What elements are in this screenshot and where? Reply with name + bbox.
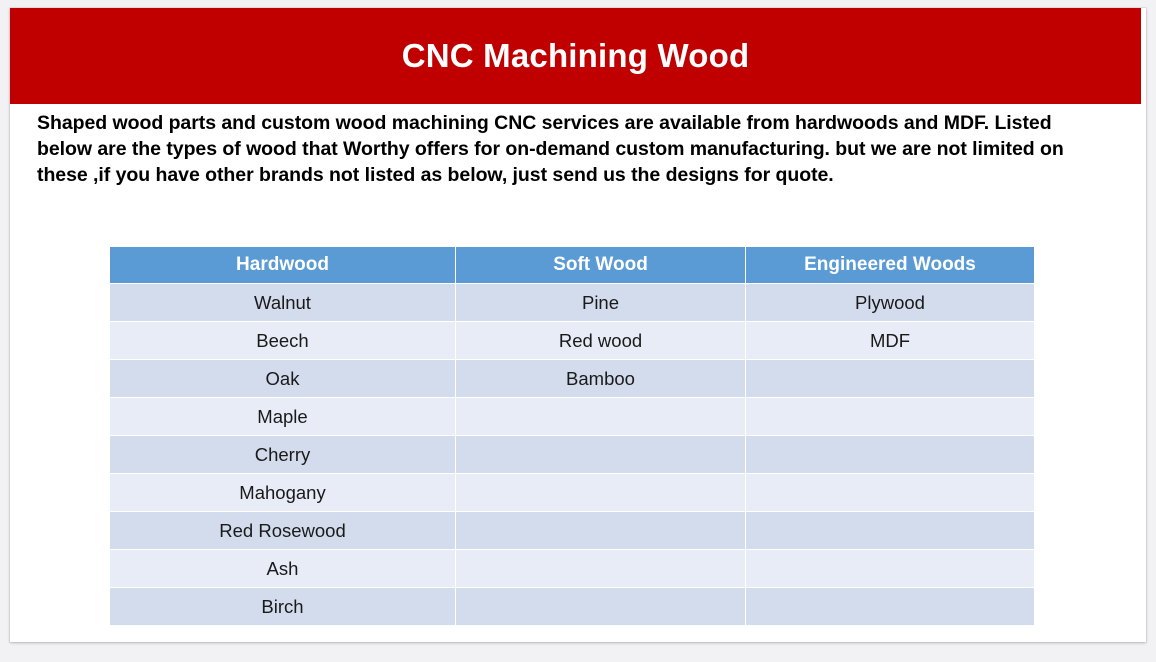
cell-soft-wood — [456, 512, 745, 549]
cell-engineered-woods — [746, 360, 1034, 397]
cell-engineered-woods: Plywood — [746, 284, 1034, 321]
cell-engineered-woods — [746, 588, 1034, 625]
cell-engineered-woods — [746, 512, 1034, 549]
table-body: Walnut Pine Plywood Beech Red wood MDF O… — [110, 284, 1034, 625]
cell-soft-wood — [456, 398, 745, 435]
cell-hardwood: Beech — [110, 322, 455, 359]
table-row: Cherry — [110, 436, 1034, 473]
column-header-engineered-woods: Engineered Woods — [746, 247, 1034, 283]
intro-paragraph: Shaped wood parts and custom wood machin… — [37, 111, 1097, 188]
cell-engineered-woods — [746, 550, 1034, 587]
cell-hardwood: Maple — [110, 398, 455, 435]
cell-soft-wood — [456, 474, 745, 511]
table-row: Birch — [110, 588, 1034, 625]
cell-hardwood: Walnut — [110, 284, 455, 321]
cell-hardwood: Oak — [110, 360, 455, 397]
title-banner: CNC Machining Wood — [10, 8, 1141, 104]
cell-soft-wood: Pine — [456, 284, 745, 321]
table-row: Maple — [110, 398, 1034, 435]
cell-hardwood: Ash — [110, 550, 455, 587]
cell-soft-wood — [456, 436, 745, 473]
slide-canvas: CNC Machining Wood Shaped wood parts and… — [10, 8, 1146, 642]
table-header: Hardwood Soft Wood Engineered Woods — [110, 247, 1034, 283]
cell-hardwood: Cherry — [110, 436, 455, 473]
table-row: Ash — [110, 550, 1034, 587]
table-row: Walnut Pine Plywood — [110, 284, 1034, 321]
cell-soft-wood — [456, 588, 745, 625]
cell-soft-wood — [456, 550, 745, 587]
column-header-soft-wood: Soft Wood — [456, 247, 745, 283]
table-header-row: Hardwood Soft Wood Engineered Woods — [110, 247, 1034, 283]
wood-types-table: Hardwood Soft Wood Engineered Woods Waln… — [109, 246, 1035, 626]
column-header-hardwood: Hardwood — [110, 247, 455, 283]
table-row: Beech Red wood MDF — [110, 322, 1034, 359]
cell-hardwood: Mahogany — [110, 474, 455, 511]
cell-hardwood: Birch — [110, 588, 455, 625]
page-title: CNC Machining Wood — [402, 38, 750, 74]
cell-soft-wood: Red wood — [456, 322, 745, 359]
table-row: Oak Bamboo — [110, 360, 1034, 397]
cell-engineered-woods: MDF — [746, 322, 1034, 359]
cell-engineered-woods — [746, 398, 1034, 435]
table-row: Mahogany — [110, 474, 1034, 511]
cell-engineered-woods — [746, 436, 1034, 473]
table-row: Red Rosewood — [110, 512, 1034, 549]
cell-hardwood: Red Rosewood — [110, 512, 455, 549]
cell-engineered-woods — [746, 474, 1034, 511]
cell-soft-wood: Bamboo — [456, 360, 745, 397]
